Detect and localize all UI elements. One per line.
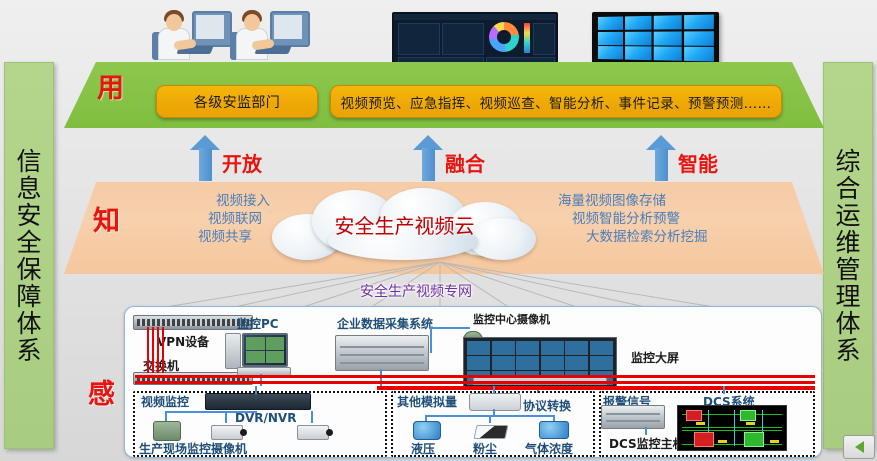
pillar-left-char-0: 信 [16, 148, 41, 175]
layer-tag-use: 用 [97, 66, 124, 105]
pillar-right-char-4: 管 [835, 256, 860, 283]
link-camera1-v [165, 411, 167, 421]
pillar-left-char-4: 保 [16, 256, 41, 283]
arrow-label-open: 开放 [222, 148, 262, 177]
cloud-capabilities-left: 视频接入 视频联网 视频共享 [130, 192, 270, 246]
wall-panel [598, 31, 623, 44]
pillar-left-char-7: 系 [16, 337, 41, 364]
corner-chevron-chip[interactable] [843, 435, 875, 459]
pillar-right-char-6: 体 [835, 310, 860, 337]
dashboard-table-right [442, 23, 484, 55]
link-dvr-to-bus [255, 386, 257, 394]
label-hydraulic: 液压 [411, 440, 435, 457]
pillar-right-char-2: 运 [835, 202, 860, 229]
pillar-left-char-1: 息 [16, 175, 41, 202]
cloud-title: 安全生产视频云 [272, 188, 537, 261]
wall-panel [684, 31, 714, 46]
link-camera-horizontal [430, 327, 470, 329]
infrastructure-panel: VPN设备 交换机 监控PC 企业数据采集系统 监控中心摄像机 [124, 306, 822, 458]
label-field-cameras: 生产现场监控摄像机 [139, 440, 247, 457]
link-dcs-to-bus [723, 386, 725, 394]
link-dvr-cameras-h [165, 411, 257, 413]
private-network-label: 安全生产视频专网 [360, 281, 472, 301]
cloud-capability-item: 视频共享 [130, 228, 252, 246]
link-dcs-host-v [645, 427, 647, 435]
layer-tag-know: 知 [93, 199, 120, 238]
pillar-left-char-2: 安 [16, 202, 41, 229]
dvr-nvr-icon [205, 393, 311, 410]
cloud-capability-item: 视频智能分析预警 [572, 210, 778, 228]
operators-illustration [150, 4, 325, 64]
wall-panel [598, 46, 623, 60]
pillar-right-char-5: 理 [835, 283, 860, 310]
label-gas-concentration: 气体浓度 [525, 440, 573, 457]
arrow-label-fusion: 融合 [445, 148, 485, 177]
link-proto-to-bus [493, 386, 495, 394]
gas-sensor-icon [539, 421, 569, 439]
pc-monitor-icon [242, 333, 288, 367]
label-dcs-host: DCS监控主机 [609, 435, 685, 452]
wall-panel [653, 15, 681, 29]
label-dust: 粉尘 [473, 440, 497, 457]
pillar-left-char-6: 体 [16, 310, 41, 337]
ptz-camera-icon [153, 421, 181, 441]
dashboard-sparkline-grid [533, 23, 555, 55]
cloud-capability-item: 视频联网 [130, 210, 262, 228]
dashboard-titlebar [394, 14, 556, 20]
button-safety-departments[interactable]: 各级安监部门 [156, 85, 318, 118]
pillar-operations-management: 综 合 运 维 管 理 体 系 [823, 62, 873, 449]
link-proto-down [493, 409, 495, 417]
arrow-open-icon [190, 135, 220, 181]
cloud-capability-item: 海量视频图像存储 [558, 192, 778, 210]
layer-tag-sense: 感 [88, 372, 115, 411]
dashboard-heat-legend [524, 23, 530, 53]
pillar-right-char-7: 系 [835, 337, 860, 364]
cloud-capabilities-right: 海量视频图像存储 视频智能分析预警 大数据检索分析挖掘 [558, 192, 778, 246]
arrow-label-intelligent: 智能 [678, 148, 718, 177]
label-protocol-conversion: 协议转换 [523, 397, 571, 414]
wall-panel [653, 31, 681, 45]
dashboard-table-left [398, 23, 440, 55]
wall-panel [653, 46, 681, 60]
link-camera3-v [311, 411, 313, 423]
operator-figure [152, 6, 232, 64]
operator-figure [230, 6, 310, 64]
link-camera2-v [225, 411, 227, 423]
monitor-screen [274, 15, 302, 39]
label-vpn-device: VPN设备 [157, 333, 209, 350]
wall-panel [684, 14, 714, 29]
label-other-analog: 其他模拟量 [397, 393, 457, 410]
pillar-right-char-1: 合 [835, 175, 860, 202]
label-monitor-large-screen: 监控大屏 [631, 349, 679, 366]
dust-sensor-icon [474, 425, 509, 439]
bullet-camera-icon [211, 425, 243, 440]
wall-panel [625, 31, 652, 45]
dashboard-donut-chart [489, 22, 519, 52]
person-head [244, 14, 260, 31]
chevron-left-icon [855, 441, 864, 453]
person-head [166, 14, 182, 31]
label-video-surveillance: 视频监控 [141, 393, 189, 410]
protocol-converter-icon [469, 393, 521, 411]
vpn-device-icon [133, 315, 253, 330]
label-enterprise-data-collection: 企业数据采集系统 [337, 315, 433, 332]
pillar-right-char-0: 综 [835, 148, 860, 175]
link-camera-vertical [430, 327, 432, 353]
pillar-right-char-3: 维 [835, 229, 860, 256]
cloud-capability-item: 视频接入 [130, 192, 270, 210]
label-dvr-nvr: DVR/NVR [235, 411, 296, 425]
wall-panel [625, 46, 652, 60]
wall-panel [684, 47, 714, 62]
video-cloud-shape: 安全生产视频云 [272, 188, 537, 261]
wall-panel [625, 16, 652, 30]
hydraulic-sensor-icon [413, 421, 441, 440]
arrow-fusion-icon [413, 135, 443, 181]
pc-tower-icon [225, 333, 241, 369]
button-application-functions[interactable]: 视频预览、应急指挥、视频巡查、智能分析、事件记录、预警预测…… [330, 85, 782, 118]
pillar-information-security: 信 息 安 全 保 障 体 系 [4, 62, 54, 449]
wall-panel [598, 16, 623, 30]
label-monitor-pc: 监控PC [237, 315, 279, 332]
video-wall-panels [598, 14, 714, 61]
pillar-left-char-3: 全 [16, 229, 41, 256]
cloud-capability-item: 大数据检索分析挖掘 [586, 228, 778, 246]
link-sensor2-v [489, 415, 491, 423]
dcs-scada-screenshot [677, 405, 787, 451]
monitor-screen [196, 15, 224, 39]
diagram-canvas: 信 息 安 全 保 障 体 系 综 合 运 维 管 理 体 系 [0, 0, 877, 461]
dcs-host-icon [601, 405, 665, 429]
data-collection-server-icon [335, 335, 429, 371]
arrow-intelligent-icon [646, 135, 676, 181]
bullet-camera-icon [297, 425, 329, 440]
label-control-center-camera: 监控中心摄像机 [473, 311, 550, 327]
pillar-left-char-5: 障 [16, 283, 41, 310]
